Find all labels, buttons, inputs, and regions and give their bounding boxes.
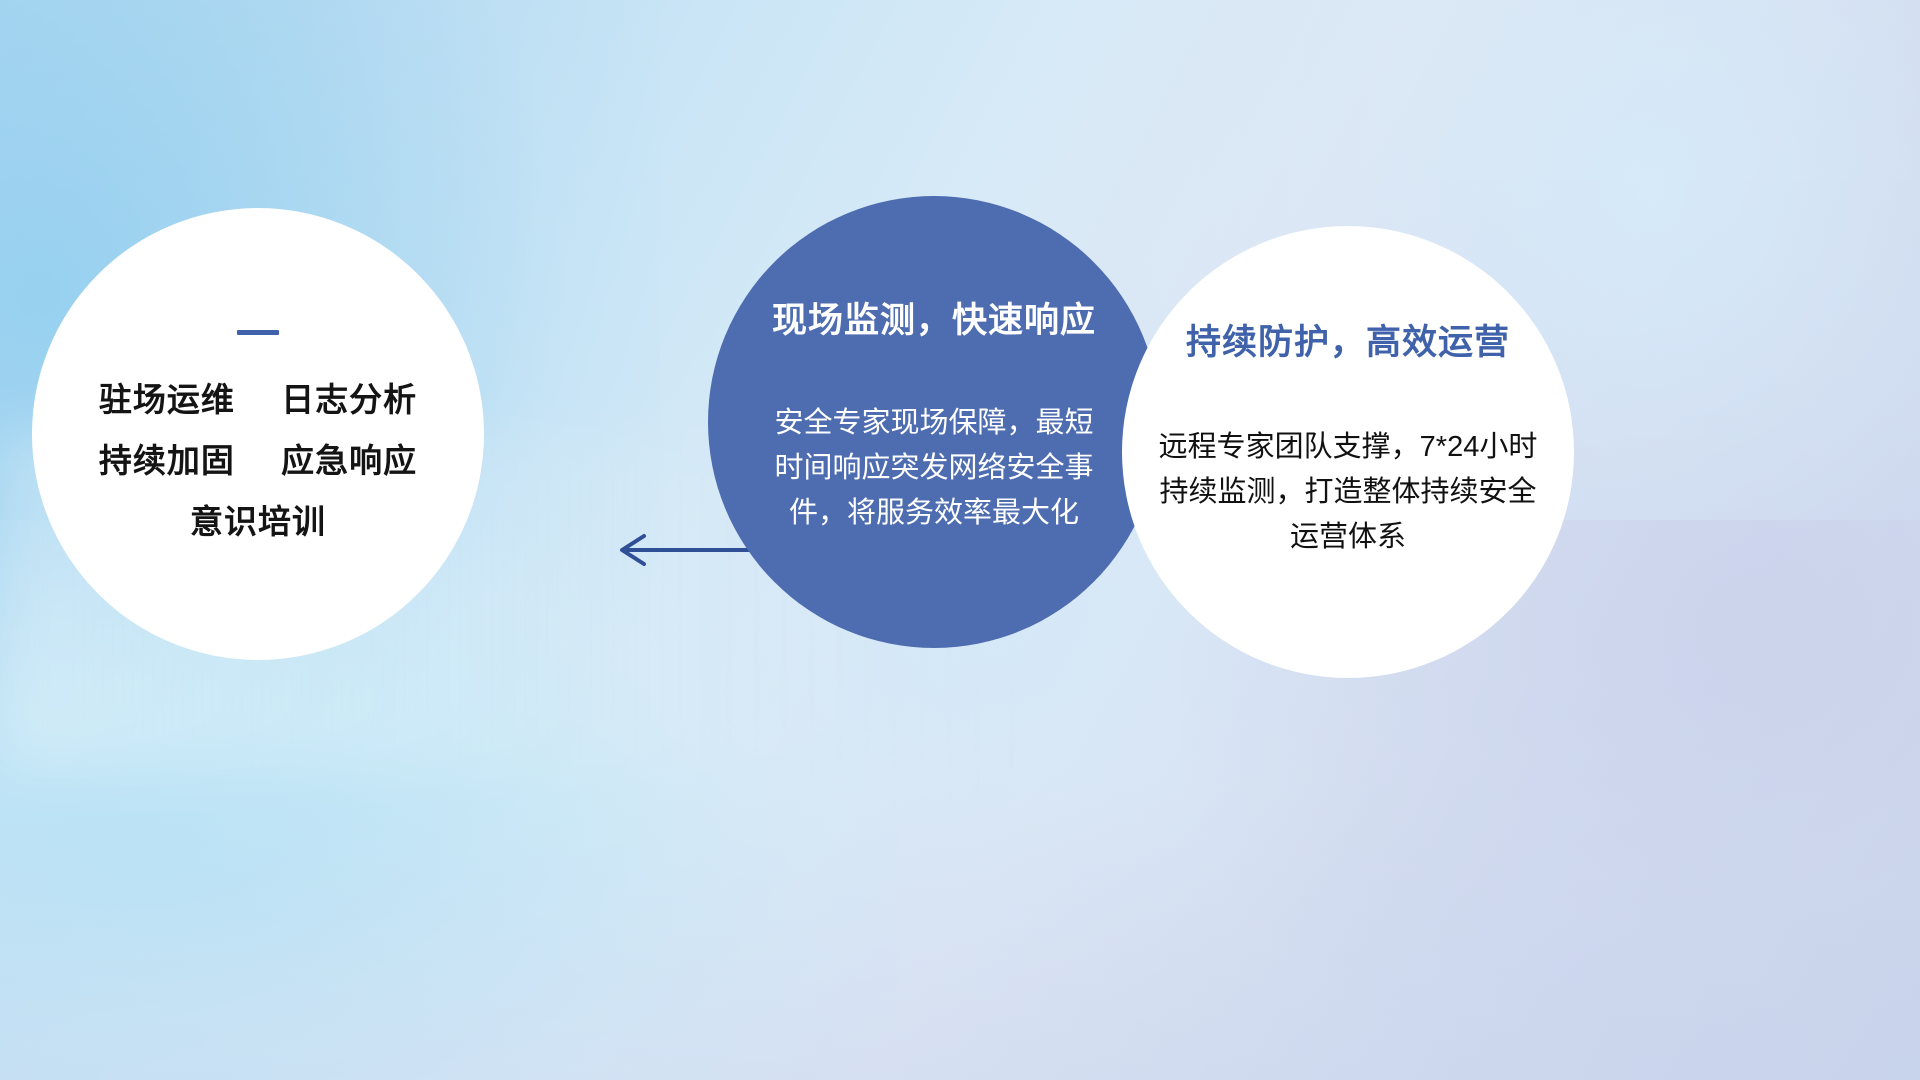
right-circle-title: 持续防护，高效运营 xyxy=(1186,314,1510,365)
service-tag-awareness-training: 意识培训 xyxy=(190,503,326,540)
service-tag-onsite-ops: 驻场运维 xyxy=(99,381,235,418)
service-tag-log-analysis: 日志分析 xyxy=(281,381,417,418)
service-tag-emergency-response: 应急响应 xyxy=(281,442,417,479)
background-bottom-vignette xyxy=(0,780,1920,1080)
divider-dash-icon xyxy=(237,330,279,335)
center-onsite-circle: 现场监测，快速响应 安全专家现场保障，最短时间响应突发网络安全事件，将服务效率最… xyxy=(708,196,1160,648)
center-circle-title: 现场监测，快速响应 xyxy=(772,292,1096,343)
list-item: 持续加固 应急响应 xyxy=(99,444,417,477)
left-services-circle: 驻场运维 日志分析 持续加固 应急响应 意识培训 xyxy=(32,208,484,660)
center-circle-body: 安全专家现场保障，最短时间响应突发网络安全事件，将服务效率最大化 xyxy=(774,401,1094,536)
list-item: 驻场运维 日志分析 xyxy=(99,383,417,416)
right-circle-body: 远程专家团队支撑，7*24小时持续监测，打造整体持续安全运营体系 xyxy=(1148,425,1548,560)
list-item: 意识培训 xyxy=(99,505,417,538)
left-services-list: 驻场运维 日志分析 持续加固 应急响应 意识培训 xyxy=(99,383,417,538)
service-tag-continuous-hardening: 持续加固 xyxy=(99,442,235,479)
right-protection-circle: 持续防护，高效运营 远程专家团队支撑，7*24小时持续监测，打造整体持续安全运营… xyxy=(1122,226,1574,678)
